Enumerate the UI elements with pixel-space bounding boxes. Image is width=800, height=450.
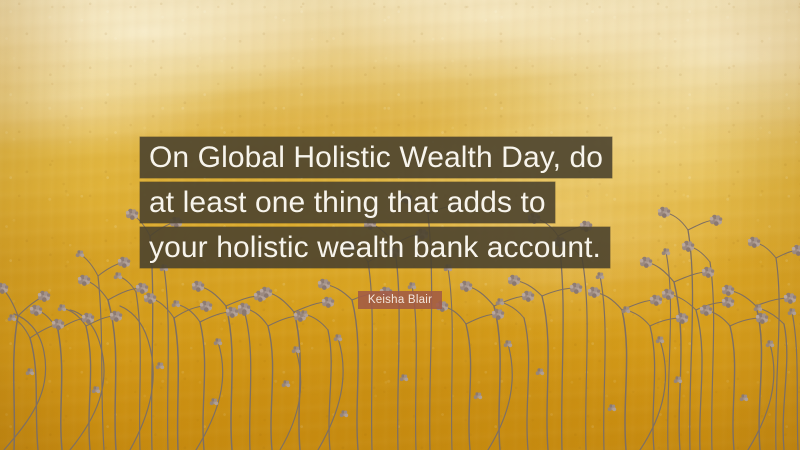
quote-line-2-row: at least one thing that adds to — [0, 182, 800, 223]
attribution-row: Keisha Blair — [0, 290, 800, 309]
quote-line-3: your holistic wealth bank account. — [140, 227, 610, 268]
quote-line-1-row: On Global Holistic Wealth Day, do — [0, 137, 800, 178]
quote-image: On Global Holistic Wealth Day, do at lea… — [0, 0, 800, 450]
quote-line-3-row: your holistic wealth bank account. — [0, 227, 800, 268]
quote-line-1: On Global Holistic Wealth Day, do — [140, 137, 612, 178]
quote-text-block: On Global Holistic Wealth Day, do at lea… — [0, 137, 800, 268]
quote-author: Keisha Blair — [358, 291, 442, 309]
quote-line-2: at least one thing that adds to — [140, 182, 555, 223]
